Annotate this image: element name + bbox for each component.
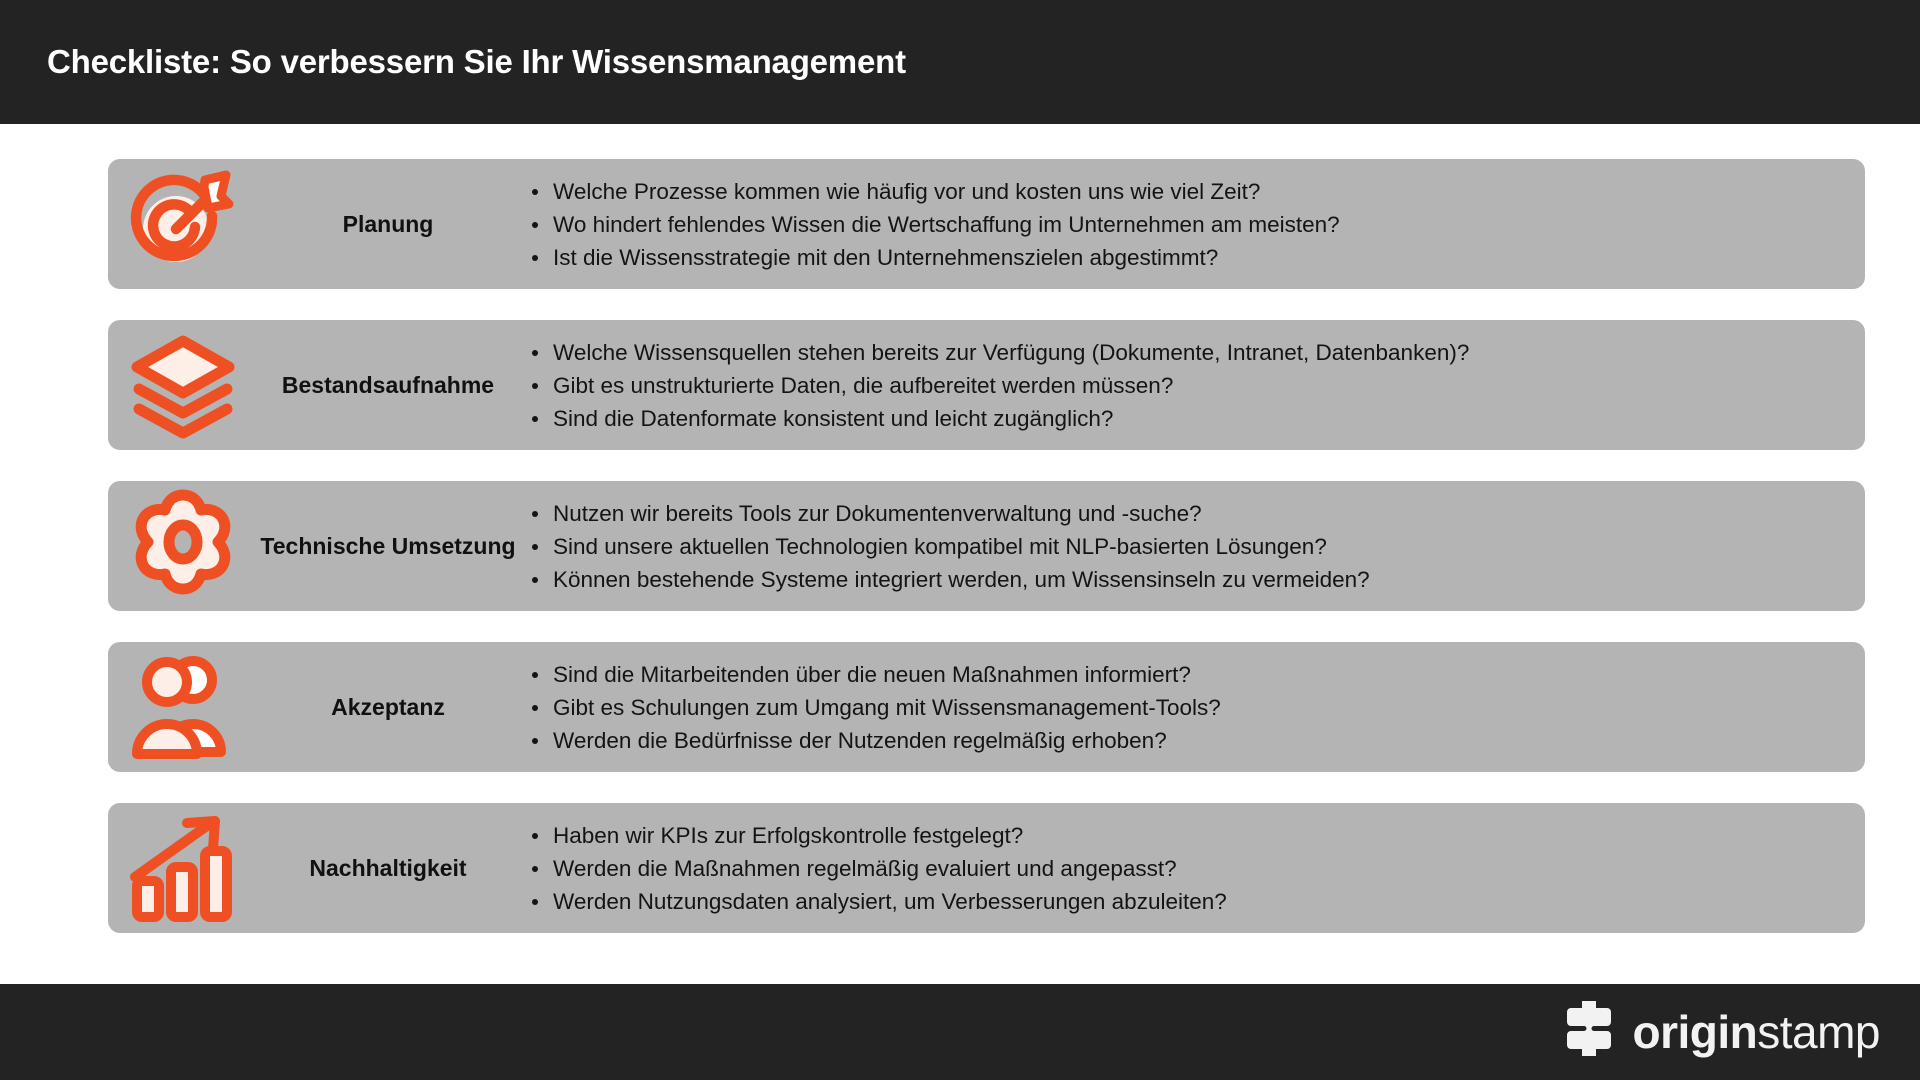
list-item: Wo hindert fehlendes Wissen die Wertscha… — [526, 208, 1841, 241]
section-label: Bestandsaufnahme — [258, 372, 526, 398]
section-label: Nachhaltigkeit — [258, 855, 526, 881]
logo-name-bold: origin — [1632, 1006, 1757, 1058]
list-item: Werden die Maßnahmen regelmäßig evaluier… — [526, 852, 1841, 885]
list-item: Können bestehende Systeme integriert wer… — [526, 563, 1841, 596]
list-item: Welche Wissensquellen stehen bereits zur… — [526, 336, 1841, 369]
originstamp-s-mark-icon — [1560, 999, 1618, 1066]
section-question-list: Welche Prozesse kommen wie häufig vor un… — [526, 175, 1865, 274]
page-title: Checkliste: So verbessern Sie Ihr Wissen… — [0, 43, 906, 81]
list-item: Welche Prozesse kommen wie häufig vor un… — [526, 175, 1841, 208]
list-item: Sind die Mitarbeitenden über die neuen M… — [526, 658, 1841, 691]
section-question-list: Sind die Mitarbeitenden über die neuen M… — [526, 658, 1865, 757]
gear-icon — [108, 481, 258, 611]
list-item: Gibt es Schulungen zum Umgang mit Wissen… — [526, 691, 1841, 724]
list-item: Sind unsere aktuellen Technologien kompa… — [526, 530, 1841, 563]
logo-name-light: stamp — [1757, 1006, 1880, 1058]
checklist-card-nachhaltigkeit: Nachhaltigkeit Haben wir KPIs zur Erfolg… — [108, 803, 1865, 933]
list-item: Sind die Datenformate konsistent und lei… — [526, 402, 1841, 435]
section-label: Planung — [258, 211, 526, 237]
growth-chart-icon — [108, 803, 258, 933]
section-question-list: Welche Wissensquellen stehen bereits zur… — [526, 336, 1865, 435]
layers-stack-icon — [108, 320, 258, 450]
section-label: Akzeptanz — [258, 694, 526, 720]
logo-wordmark: originstamp — [1632, 1009, 1880, 1055]
users-group-icon — [108, 642, 258, 772]
section-label: Technische Umsetzung — [258, 533, 526, 559]
originstamp-logo: originstamp — [1560, 999, 1880, 1066]
target-arrow-icon — [108, 159, 258, 289]
list-item: Nutzen wir bereits Tools zur Dokumentenv… — [526, 497, 1841, 530]
section-question-list: Nutzen wir bereits Tools zur Dokumentenv… — [526, 497, 1865, 596]
footer-bar: originstamp — [0, 984, 1920, 1080]
checklist-card-technische-umsetzung: Technische Umsetzung Nutzen wir bereits … — [108, 481, 1865, 611]
list-item: Ist die Wissensstrategie mit den Unterne… — [526, 241, 1841, 274]
list-item: Werden Nutzungsdaten analysiert, um Verb… — [526, 885, 1841, 918]
checklist-infographic: Checkliste: So verbessern Sie Ihr Wissen… — [0, 0, 1920, 1080]
header-bar: Checkliste: So verbessern Sie Ihr Wissen… — [0, 0, 1920, 124]
checklist-card-planung: Planung Welche Prozesse kommen wie häufi… — [108, 159, 1865, 289]
checklist-sections: Planung Welche Prozesse kommen wie häufi… — [0, 124, 1920, 984]
checklist-card-akzeptanz: Akzeptanz Sind die Mitarbeitenden über d… — [108, 642, 1865, 772]
list-item: Gibt es unstrukturierte Daten, die aufbe… — [526, 369, 1841, 402]
section-question-list: Haben wir KPIs zur Erfolgskontrolle fest… — [526, 819, 1865, 918]
list-item: Werden die Bedürfnisse der Nutzenden reg… — [526, 724, 1841, 757]
checklist-card-bestandsaufnahme: Bestandsaufnahme Welche Wissensquellen s… — [108, 320, 1865, 450]
list-item: Haben wir KPIs zur Erfolgskontrolle fest… — [526, 819, 1841, 852]
